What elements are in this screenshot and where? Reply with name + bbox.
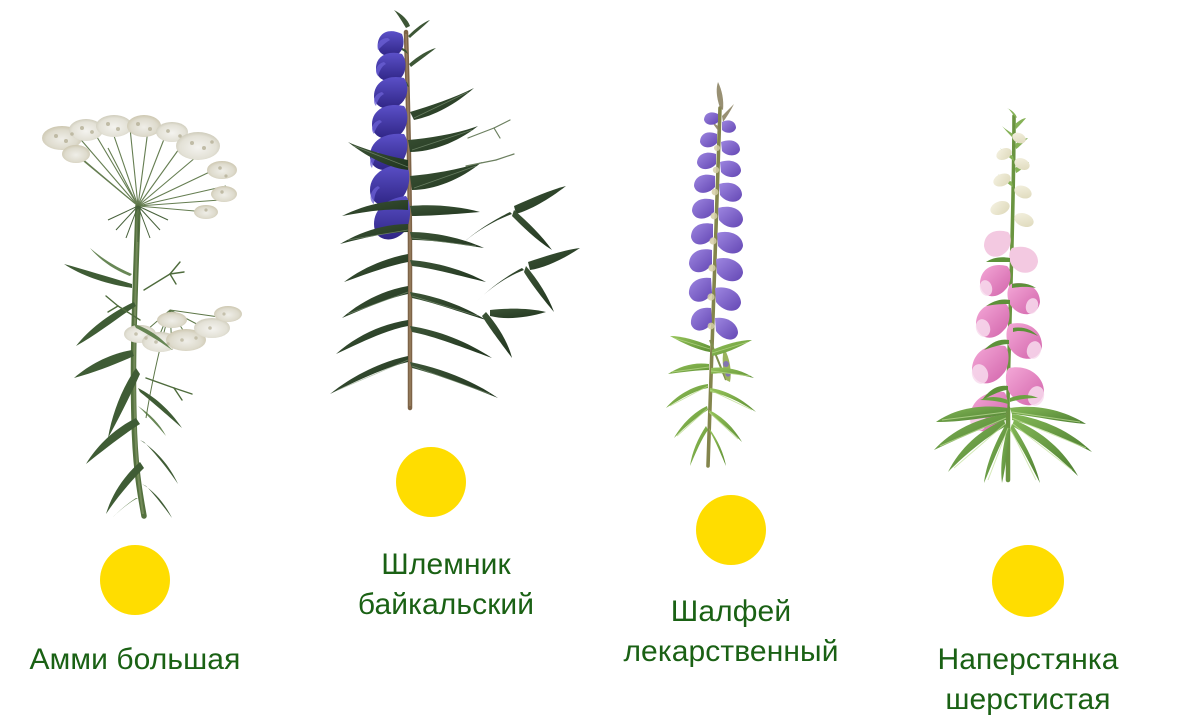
- yellow-dot-marker[interactable]: [100, 545, 170, 615]
- salvia-officinalis-photo: [660, 78, 790, 468]
- plant-label-scutellaria: Шлемник байкальский: [291, 545, 601, 625]
- slide-canvas: Амми большая: [0, 0, 1186, 725]
- yellow-dot-marker[interactable]: [396, 447, 466, 517]
- plant-label-salvia: Шалфей лекарственный: [576, 592, 886, 672]
- plant-label-ammi: Амми большая: [0, 640, 295, 680]
- yellow-dot-marker[interactable]: [992, 545, 1064, 617]
- scutellaria-baicalensis-illustration: [318, 10, 583, 410]
- yellow-dot-marker[interactable]: [696, 495, 766, 565]
- ammi-majus-illustration: [20, 88, 250, 518]
- plant-label-digitalis: Наперстянка шерстистая: [883, 640, 1173, 720]
- digitalis-lanata-photo: [930, 108, 1105, 483]
